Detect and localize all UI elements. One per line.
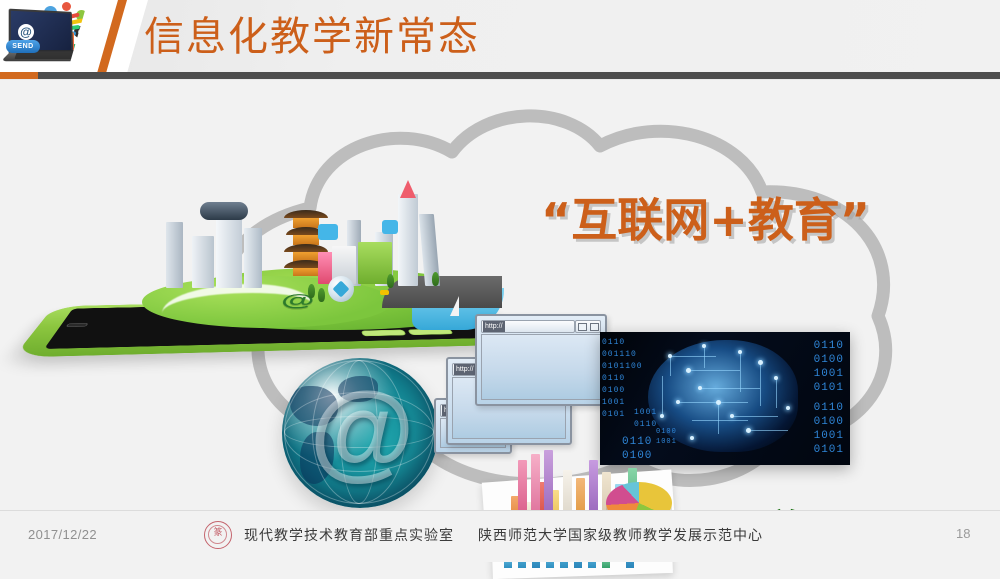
binary-text: 001110 (602, 350, 637, 359)
binary-text: 0100 (656, 428, 677, 436)
binary-text: 1001 (602, 398, 625, 407)
tree-icon (308, 284, 315, 298)
tower-spire-icon (400, 180, 416, 198)
city-scene: @ (132, 180, 502, 360)
sailboat-icon (450, 296, 459, 316)
footer-date: 2017/12/22 (28, 527, 97, 542)
binary-text: 0110 (622, 436, 652, 448)
slide-header: @ SEND 信息化教学新常态 (0, 0, 1000, 80)
binary-text: 0110 (634, 420, 657, 429)
binary-text: 0101 (814, 382, 844, 394)
slide-body: @ @ (0, 80, 1000, 510)
binary-text: 0101100 (602, 362, 643, 371)
binary-text: 1001 (814, 430, 844, 442)
binary-text: 0110 (602, 374, 625, 383)
binary-text: 0100 (814, 354, 844, 366)
binary-text: 1001 (814, 368, 844, 380)
billboard-icon (200, 202, 248, 220)
binary-text: 0101 (814, 444, 844, 456)
binary-text: 0100 (814, 416, 844, 428)
footer-center-name: 陕西师范大学国家级教师教学发展示范中心 (478, 525, 763, 545)
university-seal-icon: 篆 (204, 521, 232, 549)
header-underline-orange (0, 72, 38, 79)
at-symbol-icon: @ (18, 24, 34, 40)
tree-icon (432, 272, 439, 286)
browser-window-front[interactable]: http:// (475, 314, 607, 406)
slide-root: @ SEND 信息化教学新常态 (0, 0, 1000, 562)
car-icon (380, 290, 389, 295)
page-title: 信息化教学新常态 (144, 13, 480, 61)
binary-text: 0110 (814, 340, 844, 352)
footer-lab-name: 现代教学技术教育部重点实验室 (244, 525, 454, 545)
building-icon (192, 236, 214, 288)
at-symbol-globe: @ (306, 374, 418, 486)
building-icon (398, 194, 418, 286)
send-button-graphic: SEND (6, 40, 40, 53)
billboard-icon (318, 224, 338, 240)
building-icon (166, 222, 183, 288)
url-label: http:// (483, 321, 505, 332)
binary-text: 0101 (602, 410, 625, 419)
smartphone-3d-city: @ (40, 260, 510, 390)
url-label: http:// (454, 364, 476, 375)
sphere-icon (328, 276, 354, 302)
billboard-icon (382, 220, 398, 234)
digital-brain-icon: 0110 001110 0101100 0110 0100 1001 0101 … (600, 332, 850, 465)
tree-icon (387, 274, 394, 288)
binary-text: 1001 (656, 438, 677, 446)
binary-text: 0110 (602, 338, 625, 347)
tree-icon (318, 288, 325, 302)
footer-divider (0, 510, 1000, 511)
headline-internet-plus-education: “互联网+教育” (541, 192, 870, 248)
binary-text: 0100 (602, 386, 625, 395)
building-icon (244, 228, 262, 288)
header-underline-grey (38, 72, 1000, 79)
binary-text: 0110 (814, 402, 844, 414)
binary-text: 1001 (634, 408, 657, 417)
page-number: 18 (956, 526, 970, 541)
media-blob-icon (62, 2, 71, 11)
globe-at-icon: @ (282, 358, 438, 508)
building-icon (216, 214, 242, 288)
